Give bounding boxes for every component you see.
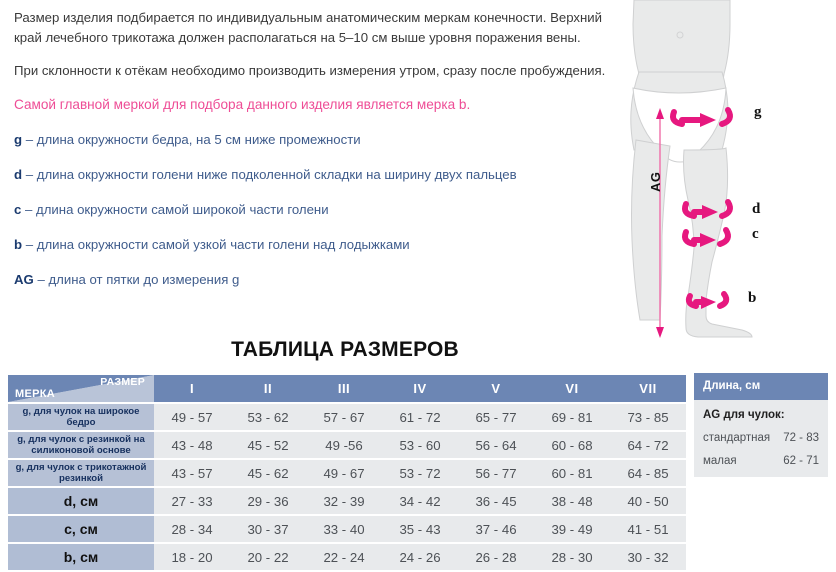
intro-paragraph-2: При склонности к отёкам необходимо произ…: [14, 61, 614, 81]
table-cell: 35 - 43: [382, 516, 458, 542]
table-cell: 49 - 57: [154, 404, 230, 430]
definition-b: b – длина окружности самой узкой части г…: [14, 236, 614, 254]
table-cell: 28 - 30: [534, 544, 610, 570]
definition-dash-c: –: [25, 202, 32, 217]
definition-ag: AG – длина от пятки до измерения g: [14, 271, 614, 289]
table-cell: 22 - 24: [306, 544, 382, 570]
size-table: РАЗМЕР МЕРКА I II III IV V VI VII g, для…: [8, 373, 686, 572]
column-header-iv: IV: [382, 375, 458, 402]
table-cell: 30 - 32: [610, 544, 686, 570]
table-row: g, для чулок с резинкой на силиконовой о…: [8, 432, 686, 458]
table-cell: 30 - 37: [230, 516, 306, 542]
table-cell: 43 - 48: [154, 432, 230, 458]
length-row-standard: стандартная 72 - 83: [703, 432, 819, 444]
definition-dash-g: –: [26, 132, 33, 147]
table-cell: 43 - 57: [154, 460, 230, 486]
table-cell: 49 - 67: [306, 460, 382, 486]
table-cell: 41 - 51: [610, 516, 686, 542]
table-cell: 26 - 28: [458, 544, 534, 570]
b-arrow-head-icon: [701, 296, 716, 309]
definition-key-d: d: [14, 167, 22, 182]
table-cell: 27 - 33: [154, 488, 230, 514]
table-cell: 18 - 20: [154, 544, 230, 570]
table-cell: 65 - 77: [458, 404, 534, 430]
table-cell: 57 - 67: [306, 404, 382, 430]
column-header-vii: VII: [610, 375, 686, 402]
definition-key-g: g: [14, 132, 22, 147]
table-cell: 64 - 85: [610, 460, 686, 486]
table-cell: 36 - 45: [458, 488, 534, 514]
table-cell: 53 - 60: [382, 432, 458, 458]
table-cell: 28 - 34: [154, 516, 230, 542]
definition-text-c: длина окружности самой широкой части гол…: [36, 202, 329, 217]
definition-dash-d: –: [26, 167, 33, 182]
illustration-label-c: c: [752, 226, 759, 243]
table-cell: 38 - 48: [534, 488, 610, 514]
definition-text-d: длина окружности голени ниже подколенной…: [37, 167, 517, 182]
table-cell: 53 - 72: [382, 460, 458, 486]
row-label: g, для чулок на широкое бедро: [8, 404, 154, 430]
row-label: g, для чулок с трикотажной резинкой: [8, 460, 154, 486]
definition-g: g – длина окружности бедра, на 5 см ниже…: [14, 131, 614, 149]
table-cell: 53 - 62: [230, 404, 306, 430]
table-cell: 69 - 81: [534, 404, 610, 430]
table-row: c, см 28 - 34 30 - 37 33 - 40 35 - 43 37…: [8, 516, 686, 542]
intro-text-column: Размер изделия подбирается по индивидуал…: [14, 8, 614, 306]
table-row: g, для чулок на широкое бедро 49 - 57 53…: [8, 404, 686, 430]
definition-d: d – длина окружности голени ниже подколе…: [14, 166, 614, 184]
definition-text-g: длина окружности бедра, на 5 см ниже про…: [37, 132, 361, 147]
row-label: c, см: [8, 516, 154, 542]
length-row-small: малая 62 - 71: [703, 455, 819, 467]
table-cell: 56 - 77: [458, 460, 534, 486]
corner-measure-label: МЕРКА: [15, 388, 55, 400]
table-cell: 32 - 39: [306, 488, 382, 514]
corner-size-label: РАЗМЕР: [100, 376, 145, 388]
column-header-i: I: [154, 375, 230, 402]
table-cell: 39 - 49: [534, 516, 610, 542]
definition-text-b: длина окружности самой узкой части голен…: [37, 237, 410, 252]
size-table-head: РАЗМЕР МЕРКА I II III IV V VI VII: [8, 375, 686, 402]
intro-paragraph-1: Размер изделия подбирается по индивидуал…: [14, 8, 614, 47]
length-row-name: малая: [703, 455, 737, 467]
definition-key-b: b: [14, 237, 22, 252]
key-measurement-note: Самой главной меркой для подбора данного…: [14, 95, 614, 114]
measurement-illustration: g d c b AG: [612, 0, 836, 345]
definition-key-ag: AG: [14, 272, 34, 287]
female-lower-body-silhouette: [631, 0, 752, 337]
illustration-label-g: g: [754, 104, 762, 121]
column-header-v: V: [458, 375, 534, 402]
table-cell: 60 - 68: [534, 432, 610, 458]
illustration-label-ag: AG: [648, 172, 663, 193]
table-cell: 29 - 36: [230, 488, 306, 514]
table-cell: 60 - 81: [534, 460, 610, 486]
row-label: d, см: [8, 488, 154, 514]
length-row-name: стандартная: [703, 432, 770, 444]
row-label: g, для чулок с резинкой на силиконовой о…: [8, 432, 154, 458]
table-row: d, см 27 - 33 29 - 36 32 - 39 34 - 42 36…: [8, 488, 686, 514]
definition-text-ag: длина от пятки до измерения g: [48, 272, 239, 287]
table-corner-header: РАЗМЕР МЕРКА: [8, 375, 154, 402]
definition-key-c: c: [14, 202, 21, 217]
length-row-value: 62 - 71: [783, 455, 819, 467]
table-cell: 40 - 50: [610, 488, 686, 514]
size-table-header-row: РАЗМЕР МЕРКА I II III IV V VI VII: [8, 375, 686, 402]
table-cell: 56 - 64: [458, 432, 534, 458]
table-cell: 20 - 22: [230, 544, 306, 570]
row-label: b, см: [8, 544, 154, 570]
table-cell: 34 - 42: [382, 488, 458, 514]
table-cell: 64 - 72: [610, 432, 686, 458]
column-header-iii: III: [306, 375, 382, 402]
table-cell: 49 -56: [306, 432, 382, 458]
table-row: g, для чулок с трикотажной резинкой 43 -…: [8, 460, 686, 486]
table-cell: 45 - 62: [230, 460, 306, 486]
length-panel: Длина, см AG для чулок: стандартная 72 -…: [694, 373, 828, 477]
table-cell: 61 - 72: [382, 404, 458, 430]
length-row-value: 72 - 83: [783, 432, 819, 444]
table-cell: 45 - 52: [230, 432, 306, 458]
table-cell: 33 - 40: [306, 516, 382, 542]
length-panel-title: AG для чулок:: [703, 409, 819, 421]
length-panel-header: Длина, см: [694, 373, 828, 400]
illustration-label-b: b: [748, 290, 756, 307]
table-cell: 24 - 26: [382, 544, 458, 570]
illustration-label-d: d: [752, 201, 760, 218]
definition-dash-ag: –: [37, 272, 44, 287]
table-cell: 73 - 85: [610, 404, 686, 430]
table-row: b, см 18 - 20 20 - 22 22 - 24 24 - 26 26…: [8, 544, 686, 570]
definition-c: c – длина окружности самой широкой части…: [14, 201, 614, 219]
size-table-body: g, для чулок на широкое бедро 49 - 57 53…: [8, 404, 686, 570]
definition-dash-b: –: [26, 237, 33, 252]
length-panel-body: AG для чулок: стандартная 72 - 83 малая …: [694, 400, 828, 477]
column-header-vi: VI: [534, 375, 610, 402]
column-header-ii: II: [230, 375, 306, 402]
size-table-title: ТАБЛИЦА РАЗМЕРОВ: [0, 338, 690, 362]
table-cell: 37 - 46: [458, 516, 534, 542]
body-figure-svg: [612, 0, 836, 345]
